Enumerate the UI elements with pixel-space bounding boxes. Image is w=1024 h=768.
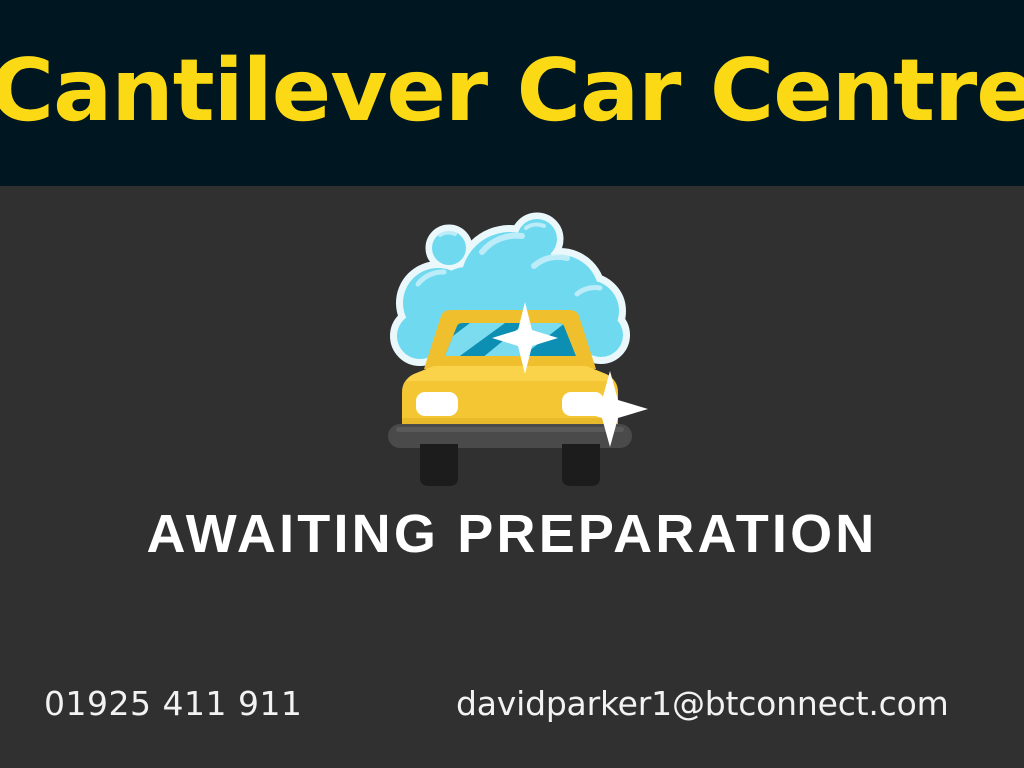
- main-content: AWAITING PREPARATION 01925 411 911 david…: [0, 186, 1024, 768]
- email-address[interactable]: davidparker1@btconnect.com: [456, 684, 949, 724]
- bumper-highlight: [396, 427, 624, 432]
- headlight-left: [416, 392, 458, 416]
- contact-footer: 01925 411 911 davidparker1@btconnect.com: [0, 666, 1024, 746]
- phone-number[interactable]: 01925 411 911: [44, 684, 302, 724]
- car-hood-highlight: [406, 366, 614, 381]
- car-wash-icon: [362, 206, 662, 496]
- header-band: Cantilever Car Centre: [0, 0, 1024, 186]
- wheel-left: [420, 444, 458, 486]
- page-title: Cantilever Car Centre: [0, 48, 1024, 138]
- listing-placeholder-card: Cantilever Car Centre: [0, 0, 1024, 768]
- status-badge: AWAITING PREPARATION: [0, 502, 1024, 566]
- wheel-right: [562, 444, 600, 486]
